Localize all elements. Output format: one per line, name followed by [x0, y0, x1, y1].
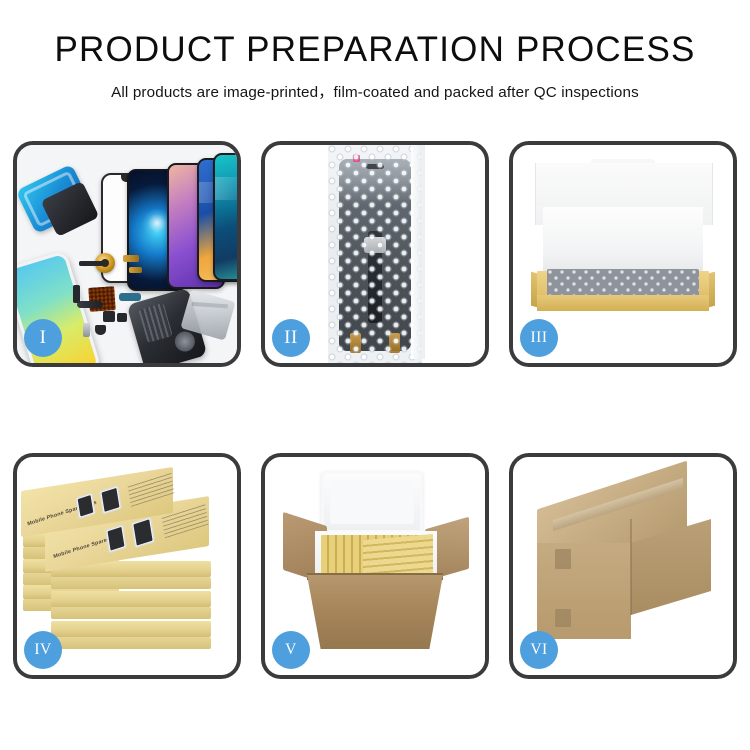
process-step-card-2[interactable]: II [261, 141, 489, 367]
sealed-carton-front-icon [537, 543, 631, 639]
stacked-box-r3 [51, 621, 211, 637]
part-sim-tray-icon [83, 323, 90, 337]
step-badge-1: I [24, 319, 62, 357]
step-badge-5: V [272, 631, 310, 669]
process-step-card-3[interactable]: III [509, 141, 737, 367]
carton-edge-icon [630, 519, 632, 615]
printed-box-1-screen-b [99, 485, 122, 514]
kraft-box-front-icon [537, 295, 709, 311]
foam-lid-icon [321, 471, 423, 533]
foam-sheet-icon [543, 207, 703, 273]
printed-box-1-speclines [128, 472, 175, 507]
page-title: PRODUCT PREPARATION PROCESS [0, 32, 750, 69]
stacked-box-r3-shadow [51, 637, 211, 649]
part-teal-flex-icon [119, 293, 141, 301]
process-step-grid: I II [13, 141, 737, 679]
part-strip-icon [79, 261, 103, 266]
part-gold-flex-icon [123, 255, 139, 262]
part-flex-cable-icon [77, 301, 103, 308]
carton-tab-upper-icon [555, 549, 571, 569]
step-badge-6: VI [520, 631, 558, 669]
part-speaker-icon [103, 311, 115, 322]
part-button-icon [117, 313, 127, 322]
bubble-texture-icon [328, 145, 422, 363]
poster-header: PRODUCT PREPARATION PROCESS All products… [0, 0, 750, 102]
stacked-box-r1-shadow [51, 577, 211, 589]
step-badge-2: II [272, 319, 310, 357]
printed-box-2-screen-a [105, 524, 127, 553]
carton-body-icon [307, 575, 443, 649]
stacked-box-r2-shadow [51, 607, 211, 619]
part-vibrator-icon [73, 285, 80, 303]
stacked-box-r2 [51, 591, 211, 607]
printed-box-2-screen-b [131, 517, 155, 548]
process-step-card-4[interactable]: Mobile Phone Spare Parts Mobile Phone Sp… [13, 453, 241, 679]
bag-fold-icon [411, 145, 425, 359]
phone-screen-teal-icon [213, 153, 237, 281]
part-camera-icon [95, 325, 106, 335]
process-step-card-1[interactable]: I [13, 141, 241, 367]
page-subtitle: All products are image-printed，film-coat… [0, 80, 750, 102]
bubble-bag-icon [328, 145, 422, 363]
carton-tab-lower-icon [555, 609, 571, 627]
bubble-wrapped-item-icon [547, 269, 699, 297]
poster-root: PRODUCT PREPARATION PROCESS All products… [0, 0, 750, 750]
printed-box-1-screen-a [75, 493, 95, 520]
step-badge-4: IV [24, 631, 62, 669]
part-gold-tab-icon [129, 267, 142, 273]
connector-grid-icon [88, 286, 116, 312]
step-badge-3: III [520, 319, 558, 357]
process-step-card-6[interactable]: VI [509, 453, 737, 679]
process-step-card-5[interactable]: V [261, 453, 489, 679]
